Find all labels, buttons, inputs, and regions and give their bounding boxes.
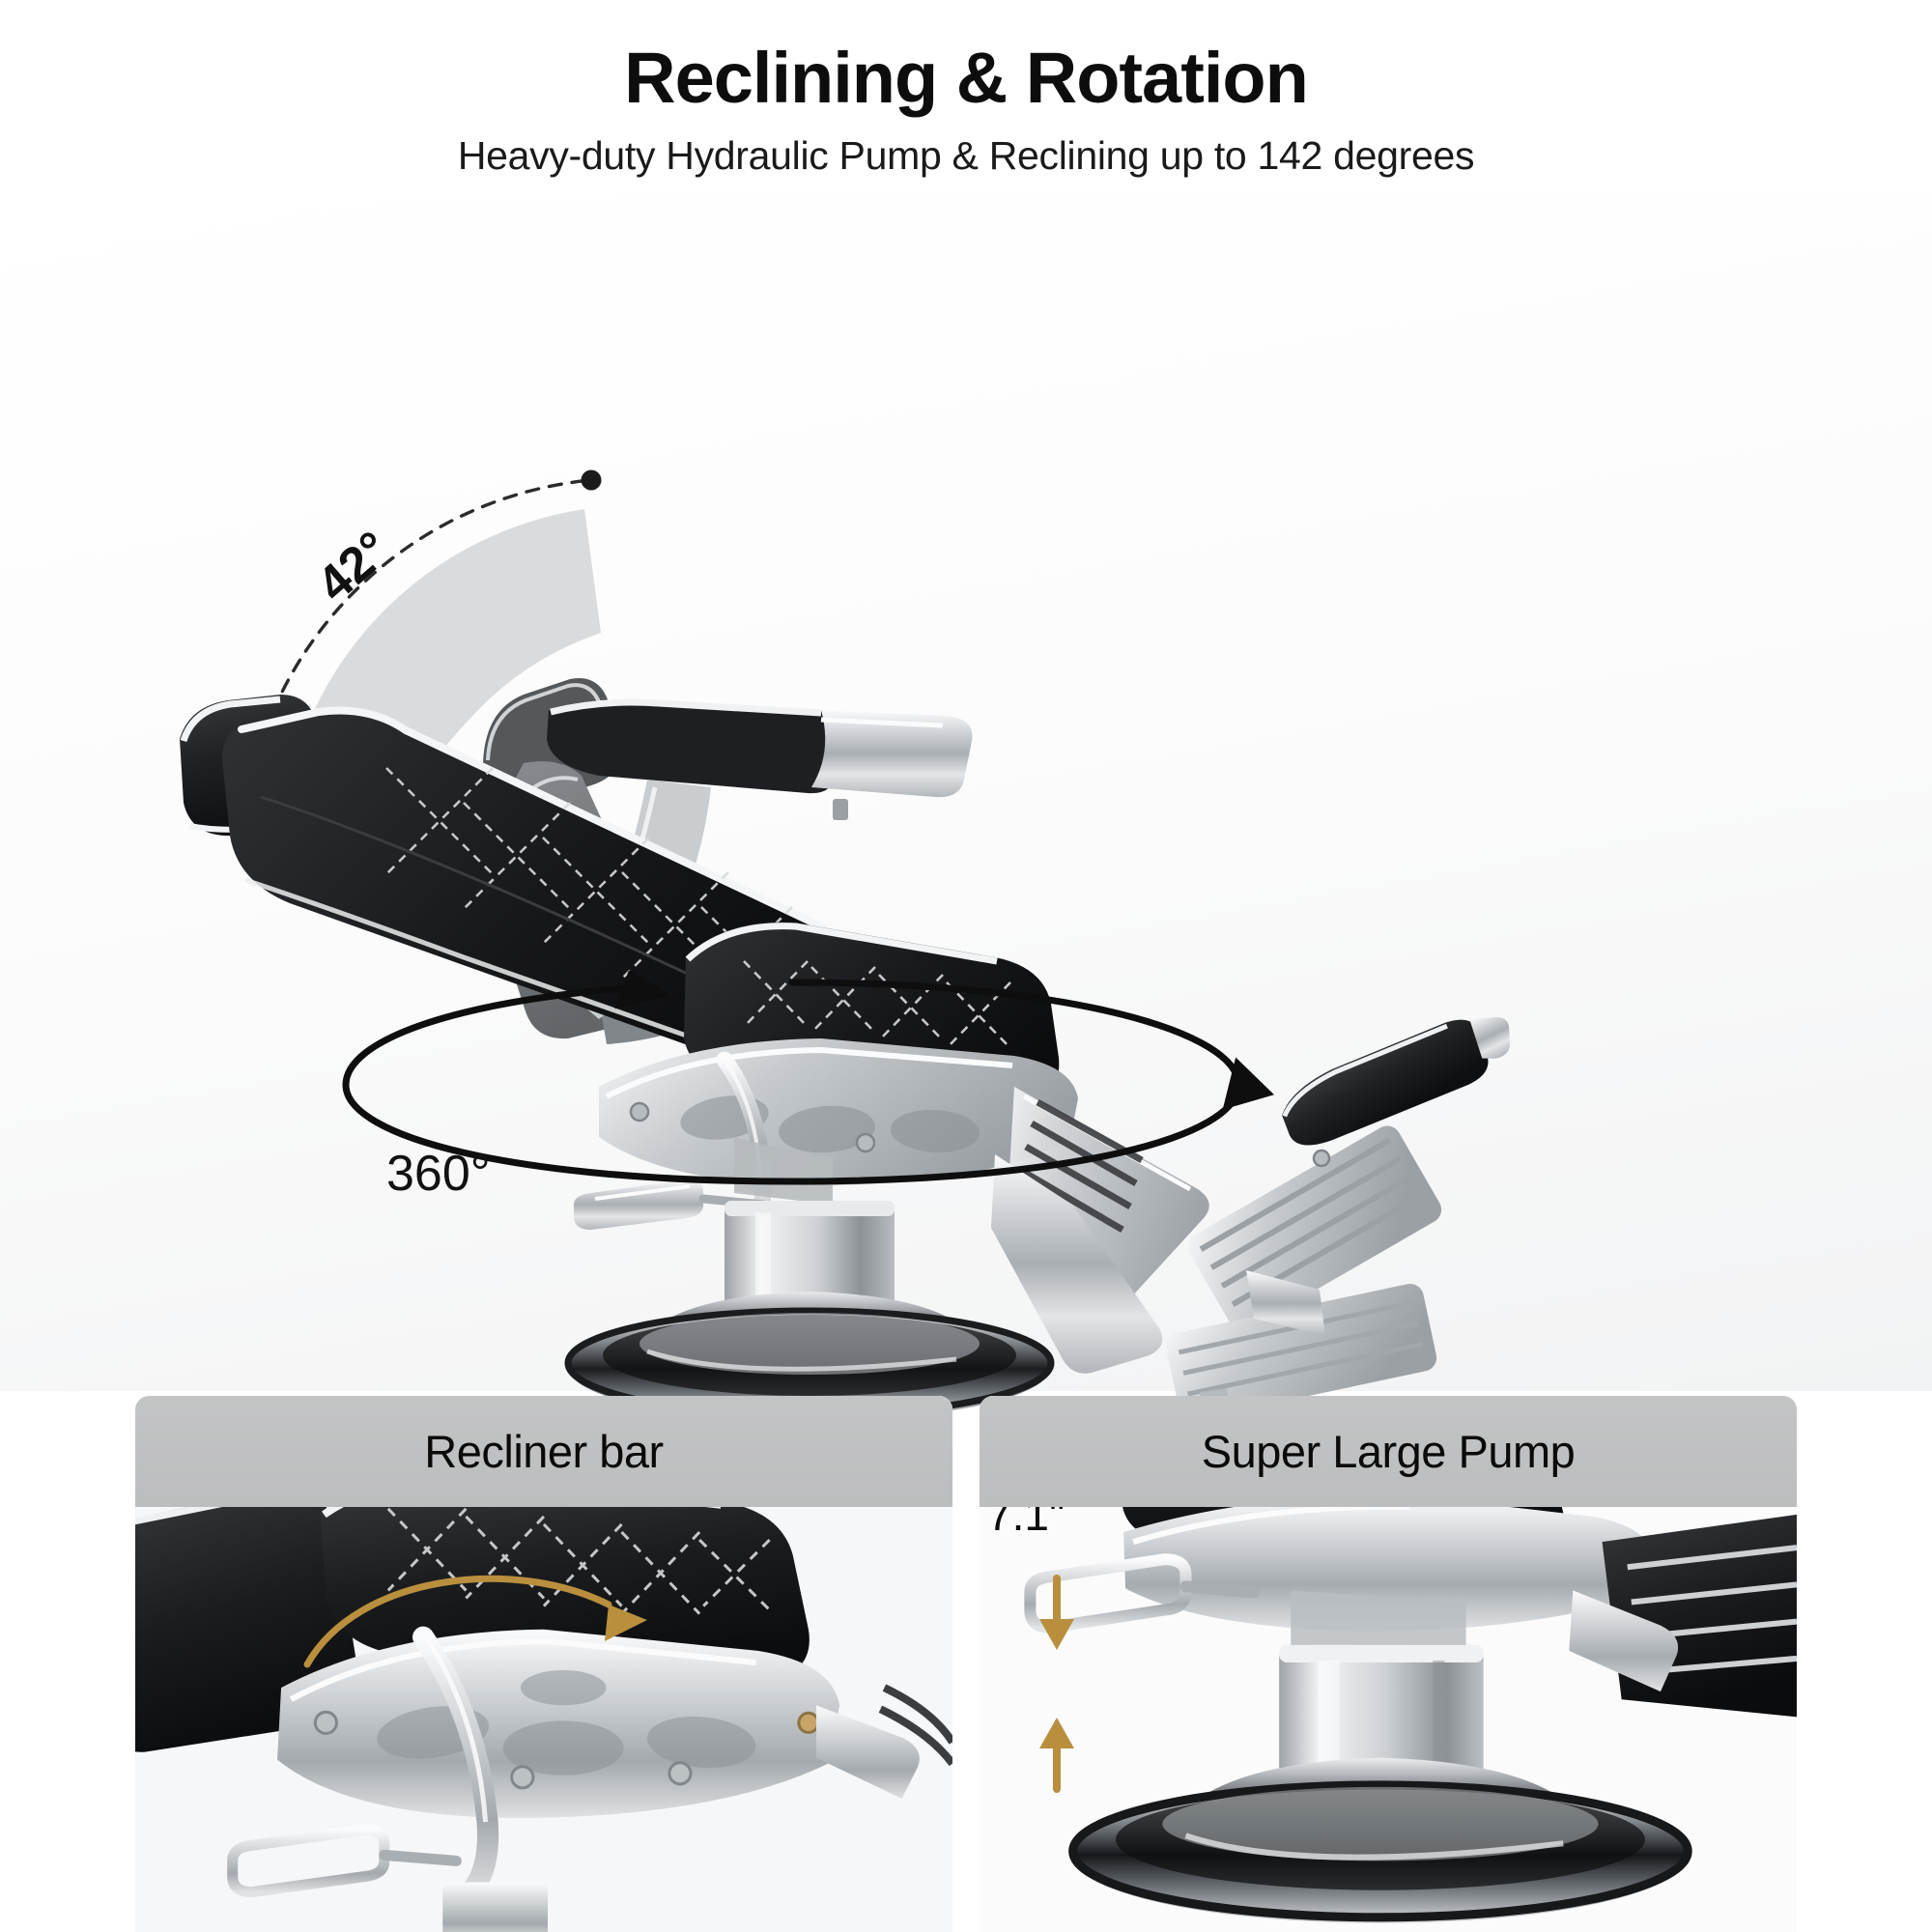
panel-recliner-bar-title: Recliner bar: [424, 1425, 663, 1478]
panel-super-large-pump-header: Super Large Pump: [980, 1396, 1797, 1507]
panel-super-large-pump-title: Super Large Pump: [1202, 1425, 1576, 1478]
recline-direction-arrow: [290, 1541, 676, 1724]
page-subtitle: Heavy-duty Hydraulic Pump & Reclining up…: [458, 133, 1474, 179]
header: Reclining & Rotation Heavy-duty Hydrauli…: [0, 0, 1932, 203]
hero-section: 42°: [0, 198, 1932, 1391]
panel-super-large-pump: 7.1" Super Large Pump: [980, 1396, 1797, 1932]
pump-height-measure: [997, 1565, 1142, 1802]
panel-recliner-bar-header: Recliner bar: [135, 1396, 952, 1507]
panel-recliner-bar: Recliner bar: [135, 1396, 952, 1932]
feature-panels: Recliner bar: [0, 1396, 1932, 1932]
page-title: Reclining & Rotation: [624, 41, 1308, 116]
rotation-angle-label: 360°: [386, 1145, 491, 1203]
barber-chair-illustration: [145, 420, 1517, 1492]
